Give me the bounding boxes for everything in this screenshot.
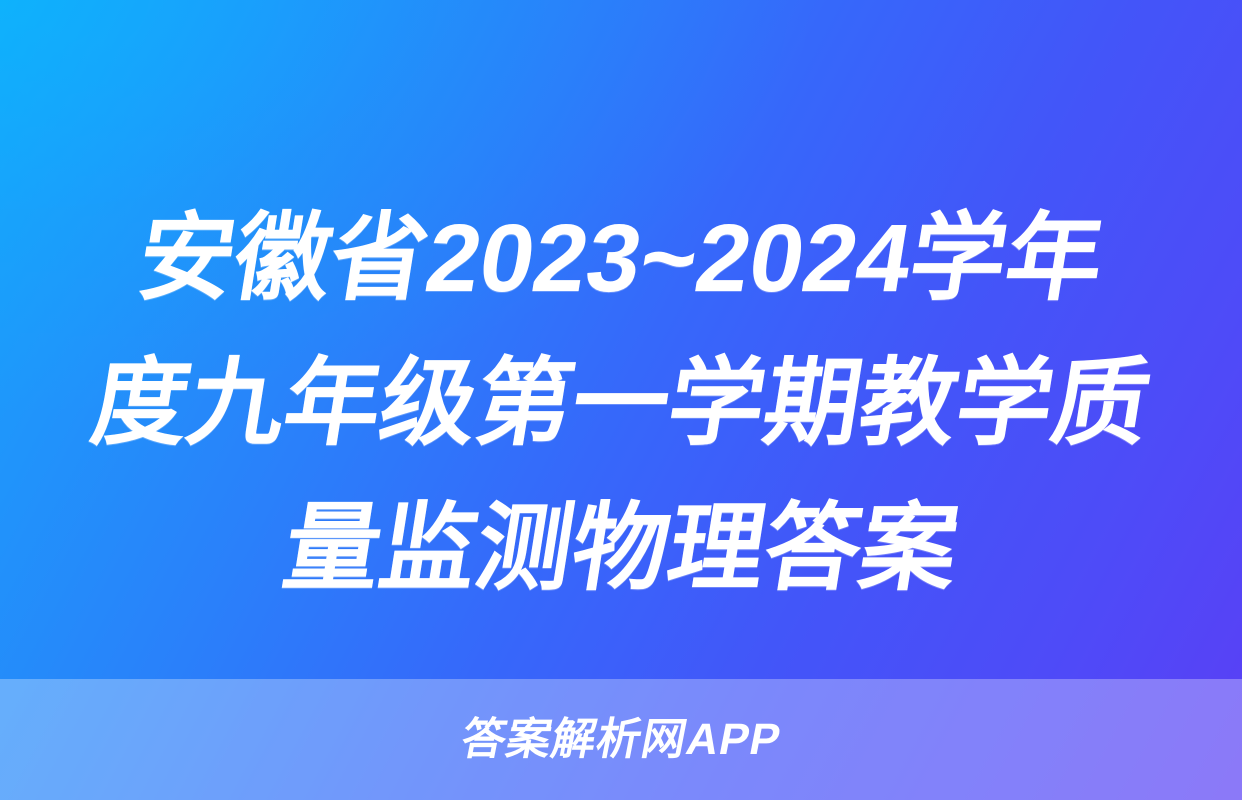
title-line-1: 安徽省2023~2024学年 [29,186,1214,331]
footer-brand-band: 答案解析网APP [0,679,1242,800]
page-title: 安徽省2023~2024学年 度九年级第一学期教学质 量监测物理答案 [0,186,1242,621]
title-line-2: 度九年级第一学期教学质 [29,331,1214,476]
title-line-3: 量监测物理答案 [29,476,1214,621]
footer-brand-label: 答案解析网APP [457,718,784,762]
poster-canvas: 安徽省2023~2024学年 度九年级第一学期教学质 量监测物理答案 答案解析网… [0,0,1242,800]
